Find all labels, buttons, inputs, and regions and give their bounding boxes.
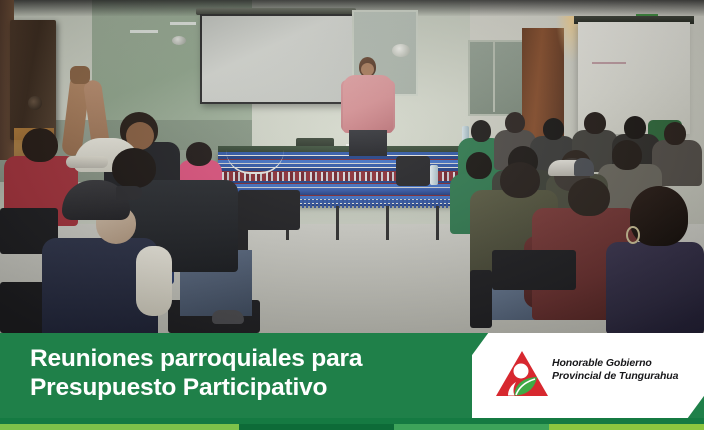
- table-leg: [336, 206, 339, 240]
- door-glass: [468, 40, 524, 116]
- audience-head: [112, 148, 156, 188]
- chair-black: [396, 156, 430, 186]
- tungurahua-volcano-logo-icon: [494, 349, 550, 399]
- chair-leg: [470, 270, 492, 328]
- audience-head: [664, 122, 686, 145]
- whiteboard-marking: [592, 62, 626, 64]
- bottom-color-strip: [0, 418, 704, 430]
- raised-fist-icon: [70, 66, 90, 84]
- audience-head: [505, 112, 525, 133]
- cap-panel: [574, 158, 594, 176]
- chair: [0, 282, 46, 333]
- shoe: [212, 310, 244, 324]
- water-bottle-floor: [430, 165, 438, 185]
- audience-member-purple-shirt: [606, 242, 704, 333]
- presenter-torso: [343, 75, 393, 133]
- white-hat-brim: [66, 156, 108, 168]
- audience-head: [612, 140, 642, 170]
- audience-head: [543, 118, 564, 140]
- strip-segment: [549, 424, 704, 430]
- campaign-banner-card: Reuniones parroquiales para Presupuesto …: [0, 0, 704, 430]
- banner-title: Reuniones parroquiales para Presupuesto …: [30, 345, 362, 403]
- green-caption-banner: Reuniones parroquiales para Presupuesto …: [0, 333, 704, 418]
- audience-head: [500, 162, 540, 198]
- logo-wordmark: Honorable Gobierno Provincial de Tungura…: [552, 357, 678, 383]
- audience-head: [624, 116, 646, 139]
- strip-segment: [394, 424, 549, 430]
- presenter-legs: [349, 130, 387, 156]
- strip-segment: [0, 424, 239, 430]
- chair: [492, 250, 576, 290]
- audience-head: [466, 152, 492, 179]
- audience-head: [568, 178, 610, 216]
- door-glass-mullion: [493, 40, 495, 112]
- chair: [238, 190, 300, 230]
- loudspeaker-icon: [10, 20, 56, 140]
- table-leg: [386, 206, 389, 240]
- wall-clock-icon: [392, 44, 410, 57]
- audience-head: [471, 120, 491, 142]
- scarf: [136, 246, 172, 316]
- strip-bottom-row: [0, 424, 704, 430]
- logo-plate: Honorable Gobierno Provincial de Tungura…: [472, 333, 704, 418]
- wall-fixture-left: [172, 36, 186, 45]
- wall-note-a: [130, 30, 158, 33]
- earring-icon: [626, 226, 640, 244]
- audience-head: [186, 142, 212, 166]
- audience-head: [22, 128, 58, 162]
- meeting-photo: [0, 0, 704, 333]
- audience-head: [584, 112, 606, 134]
- cap-brim: [116, 186, 142, 200]
- projection-screen: [200, 14, 356, 104]
- projection-screen-surface: [202, 16, 354, 102]
- wall-note-b: [170, 22, 196, 25]
- strip-segment: [239, 424, 394, 430]
- speaker-cone-icon: [28, 96, 42, 110]
- table-leg: [436, 206, 439, 240]
